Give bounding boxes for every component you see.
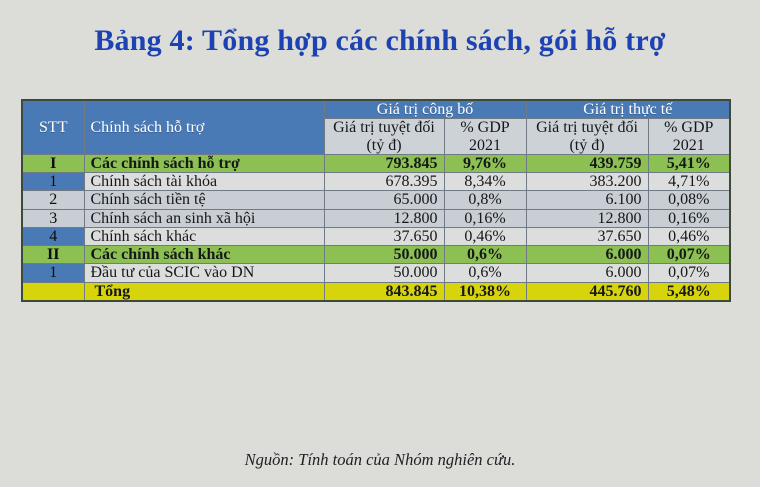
column-group-header-announced: Giá trị công bố: [324, 100, 526, 119]
cell-announced-pct: 0,6%: [444, 246, 526, 264]
table-body: ICác chính sách hỗ trợ793.8459,76%439.75…: [22, 154, 730, 301]
cell-actual-abs: 383.200: [526, 173, 648, 191]
column-header-announced-absolute: Giá trị tuyệt đối (tỷ đ): [324, 119, 444, 155]
cell-announced-abs: 37.650: [324, 227, 444, 245]
cell-announced-pct: 0,46%: [444, 227, 526, 245]
cell-policy-name: Các chính sách khác: [84, 246, 324, 264]
table-header: STT Chính sách hỗ trợ Giá trị công bố Gi…: [22, 100, 730, 154]
cell-announced-pct: 10,38%: [444, 282, 526, 301]
cell-stt: II: [22, 246, 84, 264]
table-row: 1Chính sách tài khóa678.3958,34%383.2004…: [22, 173, 730, 191]
column-header-policy: Chính sách hỗ trợ: [84, 100, 324, 154]
table-row: Tổng843.84510,38%445.7605,48%: [22, 282, 730, 301]
cell-actual-abs: 6.100: [526, 191, 648, 209]
column-header-actual-pct-gdp: % GDP 2021: [648, 119, 730, 155]
cell-policy-name: Đầu tư của SCIC vào DN: [84, 264, 324, 282]
cell-announced-abs: 678.395: [324, 173, 444, 191]
column-header-stt: STT: [22, 100, 84, 154]
cell-actual-pct: 4,71%: [648, 173, 730, 191]
column-header-announced-pct-gdp: % GDP 2021: [444, 119, 526, 155]
cell-announced-abs: 50.000: [324, 264, 444, 282]
column-header-actual-absolute: Giá trị tuyệt đối (tỷ đ): [526, 119, 648, 155]
page-title: Bảng 4: Tổng hợp các chính sách, gói hỗ …: [0, 24, 760, 58]
cell-stt: 3: [22, 209, 84, 227]
cell-actual-abs: 6.000: [526, 246, 648, 264]
cell-policy-name: Chính sách tài khóa: [84, 173, 324, 191]
table-row: ICác chính sách hỗ trợ793.8459,76%439.75…: [22, 154, 730, 172]
cell-policy-name: Tổng: [84, 282, 324, 301]
table-row: 2Chính sách tiền tệ65.0000,8%6.1000,08%: [22, 191, 730, 209]
cell-actual-pct: 0,08%: [648, 191, 730, 209]
cell-actual-pct: 0,16%: [648, 209, 730, 227]
table-row: IICác chính sách khác50.0000,6%6.0000,07…: [22, 246, 730, 264]
cell-announced-pct: 9,76%: [444, 154, 526, 172]
cell-policy-name: Chính sách khác: [84, 227, 324, 245]
cell-announced-abs: 65.000: [324, 191, 444, 209]
cell-stt: 2: [22, 191, 84, 209]
cell-announced-abs: 50.000: [324, 246, 444, 264]
cell-announced-pct: 8,34%: [444, 173, 526, 191]
cell-announced-abs: 793.845: [324, 154, 444, 172]
policy-summary-table-container: STT Chính sách hỗ trợ Giá trị công bố Gi…: [21, 99, 729, 302]
cell-actual-pct: 5,41%: [648, 154, 730, 172]
cell-actual-pct: 0,07%: [648, 264, 730, 282]
cell-stt: 1: [22, 173, 84, 191]
cell-actual-abs: 37.650: [526, 227, 648, 245]
cell-actual-abs: 6.000: [526, 264, 648, 282]
cell-actual-abs: 439.759: [526, 154, 648, 172]
cell-stt: [22, 282, 84, 301]
cell-stt: 4: [22, 227, 84, 245]
cell-policy-name: Chính sách an sinh xã hội: [84, 209, 324, 227]
cell-actual-pct: 5,48%: [648, 282, 730, 301]
source-note: Nguồn: Tính toán của Nhóm nghiên cứu.: [0, 450, 760, 470]
cell-actual-abs: 445.760: [526, 282, 648, 301]
column-group-header-actual: Giá trị thực tế: [526, 100, 730, 119]
cell-announced-abs: 843.845: [324, 282, 444, 301]
cell-policy-name: Chính sách tiền tệ: [84, 191, 324, 209]
cell-announced-pct: 0,16%: [444, 209, 526, 227]
table-row: 4Chính sách khác37.6500,46%37.6500,46%: [22, 227, 730, 245]
cell-stt: 1: [22, 264, 84, 282]
policy-summary-table: STT Chính sách hỗ trợ Giá trị công bố Gi…: [21, 99, 731, 302]
table-header-row-groups: STT Chính sách hỗ trợ Giá trị công bố Gi…: [22, 100, 730, 119]
cell-actual-pct: 0,46%: [648, 227, 730, 245]
cell-stt: I: [22, 154, 84, 172]
cell-actual-abs: 12.800: [526, 209, 648, 227]
cell-policy-name: Các chính sách hỗ trợ: [84, 154, 324, 172]
table-row: 1Đầu tư của SCIC vào DN50.0000,6%6.0000,…: [22, 264, 730, 282]
cell-announced-pct: 0,8%: [444, 191, 526, 209]
cell-announced-abs: 12.800: [324, 209, 444, 227]
slide-canvas: Bảng 4: Tổng hợp các chính sách, gói hỗ …: [0, 0, 760, 487]
cell-announced-pct: 0,6%: [444, 264, 526, 282]
cell-actual-pct: 0,07%: [648, 246, 730, 264]
table-row: 3Chính sách an sinh xã hội12.8000,16%12.…: [22, 209, 730, 227]
